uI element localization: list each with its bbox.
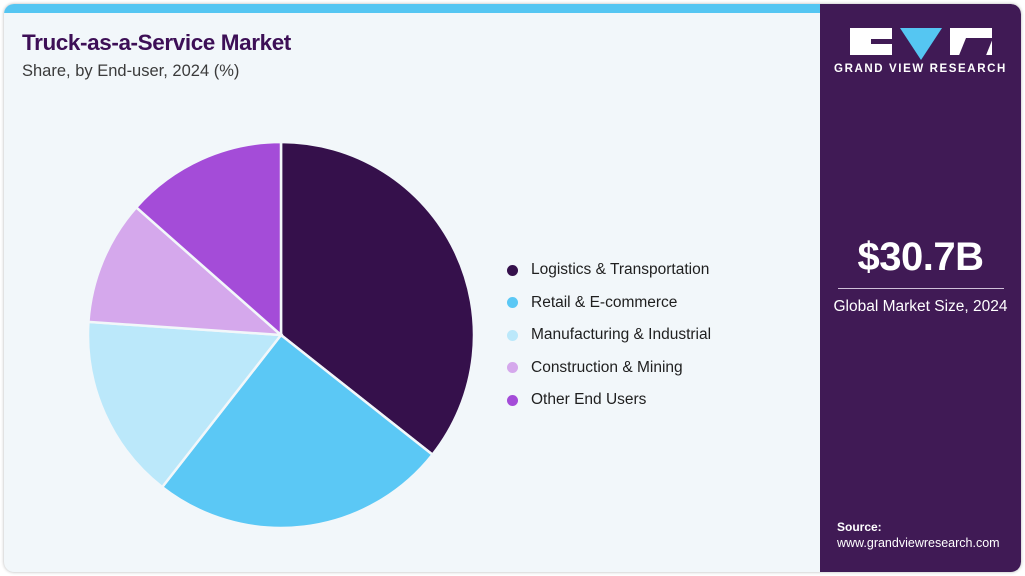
- legend-swatch-icon: [507, 297, 518, 308]
- market-size-caption: Global Market Size, 2024: [820, 297, 1021, 317]
- legend-label: Retail & E-commerce: [531, 294, 677, 312]
- chart-legend: Logistics & TransportationRetail & E-com…: [507, 254, 807, 417]
- pie-chart-svg: [87, 141, 475, 529]
- legend-label: Construction & Mining: [531, 359, 683, 377]
- legend-label: Other End Users: [531, 391, 646, 409]
- legend-swatch-icon: [507, 265, 518, 276]
- page-subtitle: Share, by End-user, 2024 (%): [22, 62, 239, 81]
- letter-r-icon: [950, 28, 992, 55]
- source-block: Source: www.grandviewresearch.com: [837, 520, 1021, 550]
- page-title: Truck-as-a-Service Market: [22, 30, 291, 56]
- legend-label: Manufacturing & Industrial: [531, 326, 711, 344]
- info-sidebar: GRAND VIEW RESEARCH $30.7B Global Market…: [820, 4, 1021, 572]
- pie-chart: [87, 141, 475, 529]
- source-label: Source:: [837, 520, 1021, 534]
- logo-marks: [850, 28, 992, 55]
- legend-swatch-icon: [507, 395, 518, 406]
- chart-card: Truck-as-a-Service Market Share, by End-…: [4, 4, 1021, 572]
- chart-page: Truck-as-a-Service Market Share, by End-…: [0, 0, 1025, 576]
- market-size-value: $30.7B: [820, 236, 1021, 279]
- market-size-block: $30.7B Global Market Size, 2024: [820, 236, 1021, 317]
- legend-label: Logistics & Transportation: [531, 261, 709, 279]
- brand-name: GRAND VIEW RESEARCH: [834, 63, 1007, 75]
- legend-swatch-icon: [507, 362, 518, 373]
- top-accent-bar: [4, 4, 821, 13]
- legend-item[interactable]: Manufacturing & Industrial: [507, 319, 807, 352]
- stat-divider: [838, 288, 1004, 289]
- legend-swatch-icon: [507, 330, 518, 341]
- legend-item[interactable]: Logistics & Transportation: [507, 254, 807, 287]
- source-url[interactable]: www.grandviewresearch.com: [837, 536, 1021, 550]
- legend-item[interactable]: Retail & E-commerce: [507, 287, 807, 320]
- legend-item[interactable]: Other End Users: [507, 384, 807, 417]
- brand-logo: GRAND VIEW RESEARCH: [820, 28, 1021, 75]
- pie-slice-group: [88, 142, 474, 528]
- letter-v-triangle-icon: [900, 28, 942, 60]
- letter-g-icon: [850, 28, 892, 55]
- legend-item[interactable]: Construction & Mining: [507, 352, 807, 385]
